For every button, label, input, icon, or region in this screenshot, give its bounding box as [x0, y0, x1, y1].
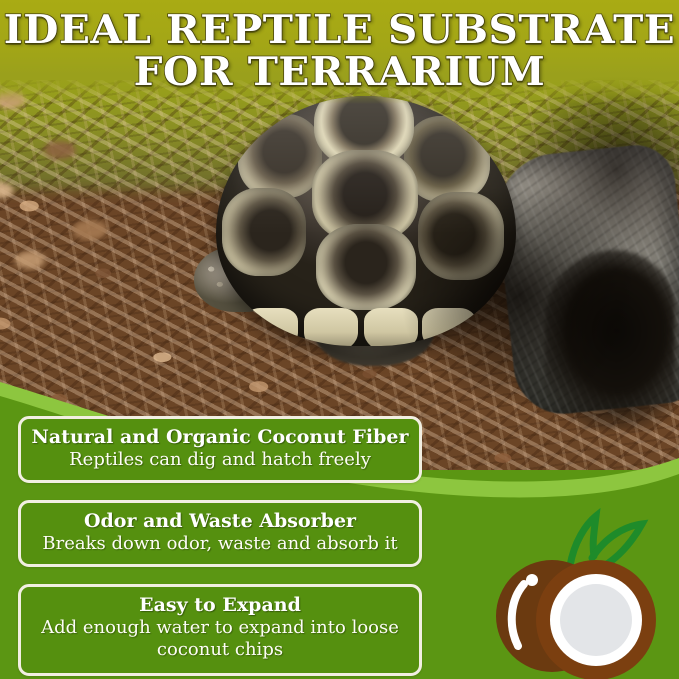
feature-description: Reptiles can dig and hatch freely: [31, 449, 409, 471]
feature-description: Breaks down odor, waste and absorb it: [31, 533, 409, 555]
feature-title: Natural and Organic Coconut Fiber: [31, 426, 409, 449]
feature-title: Easy to Expand: [31, 594, 409, 617]
shell-marginal-scute: [244, 308, 298, 346]
feature-list: Natural and Organic Coconut Fiber Reptil…: [18, 416, 422, 679]
coconut-illustration: [474, 508, 674, 679]
feature-description: Add enough water to expand into loose co…: [31, 617, 409, 661]
coconut-leaf-right-icon: [592, 524, 642, 566]
feature-box-natural-organic: Natural and Organic Coconut Fiber Reptil…: [18, 416, 422, 483]
product-infographic: IDEAL REPTILE SUBSTRATE FOR TERRARIUM Na…: [0, 0, 679, 679]
coconut-icon: [474, 508, 674, 679]
coconut-inner: [560, 584, 632, 656]
feature-box-easy-expand: Easy to Expand Add enough water to expan…: [18, 584, 422, 676]
feature-title: Odor and Waste Absorber: [31, 510, 409, 533]
header-banner: IDEAL REPTILE SUBSTRATE FOR TERRARIUM: [0, 0, 679, 104]
page-title-line-2: FOR TERRARIUM: [0, 51, 679, 93]
feature-box-odor-absorber: Odor and Waste Absorber Breaks down odor…: [18, 500, 422, 567]
page-title-line-1: IDEAL REPTILE SUBSTRATE: [0, 9, 679, 51]
coconut-shine-dot: [526, 574, 538, 586]
